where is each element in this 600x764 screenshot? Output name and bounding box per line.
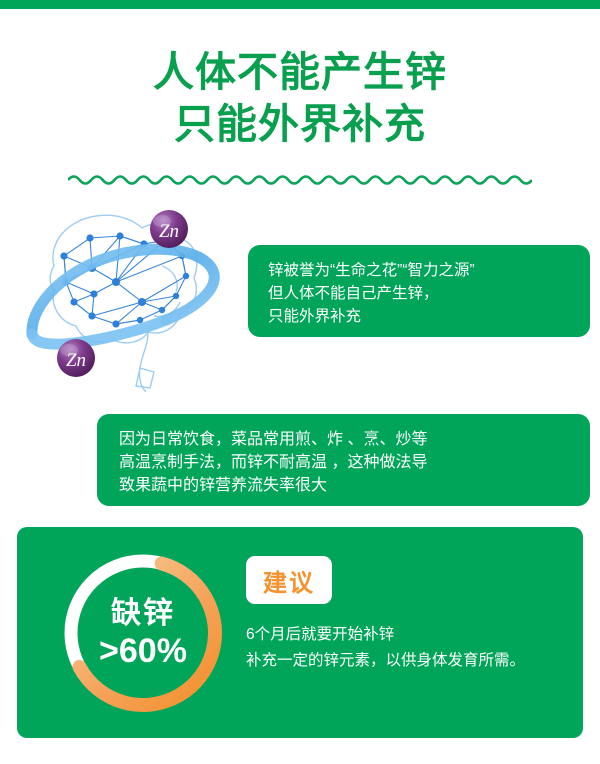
brain-network-illustration: Zn Zn [24, 196, 244, 396]
zinc-badge-bottom: Zn [57, 339, 95, 377]
statement-2-line-2: 高温烹制手法，而锌不耐高温 ，这种做法导 [119, 451, 590, 474]
statement-box-cooking-loss: 因为日常饮食，菜品常用煎、炸 、烹、炒等 高温烹制手法，而锌不耐高温 ，这种做法… [97, 414, 590, 506]
page-title-line-2: 只能外界补充 [0, 98, 600, 150]
statement-2-line-1: 因为日常饮食，菜品常用煎、炸 、烹、炒等 [119, 428, 590, 451]
advice-line-2: 补充一定的锌元素，以供身体发育所需。 [246, 648, 576, 674]
page-title: 人体不能产生锌 只能外界补充 [0, 46, 600, 150]
statement-1-line-1: 锌被誉为“生命之花”“智力之源” [268, 259, 590, 282]
top-accent-bar [0, 0, 600, 9]
zinc-badge-bottom-label: Zn [66, 350, 86, 371]
advice-chip: 建议 [246, 556, 332, 604]
statement-box-zinc-importance: 锌被誉为“生命之花”“智力之源” 但人体不能自己产生锌， 只能外界补充 [248, 245, 590, 337]
statement-1-line-2: 但人体不能自己产生锌， [268, 282, 590, 305]
zinc-badge-top-label: Zn [159, 221, 179, 242]
page-title-line-1: 人体不能产生锌 [0, 46, 600, 98]
advice-line-1: 6个月后就要开始补锌 [246, 622, 576, 648]
zinc-deficiency-donut-chart: 缺锌 >60% [55, 545, 231, 721]
advice-chip-label: 建议 [263, 563, 315, 598]
zinc-badge-top: Zn [150, 210, 188, 248]
zinc-orbit-ribbon [32, 249, 214, 344]
statement-1-line-3: 只能外界补充 [268, 305, 590, 328]
wavy-divider [68, 172, 532, 186]
donut-arc-deficiency [55, 545, 231, 721]
statement-2-line-3: 致果蔬中的锌营养流失率很大 [119, 474, 590, 497]
advice-body-text: 6个月后就要开始补锌 补充一定的锌元素，以供身体发育所需。 [246, 622, 576, 674]
